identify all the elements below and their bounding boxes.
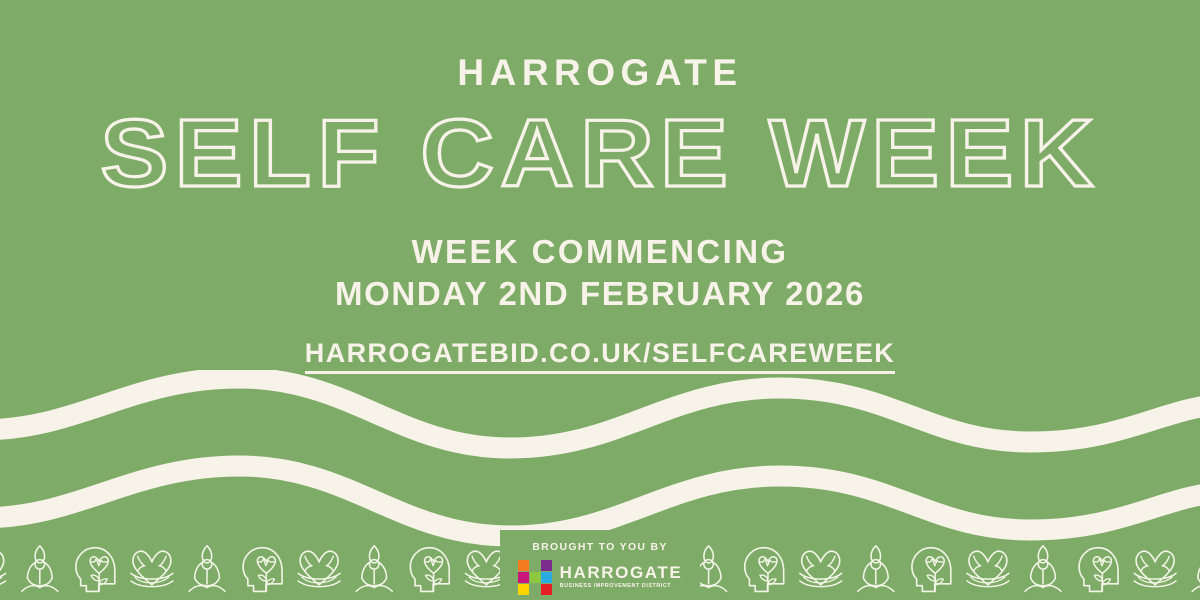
logo-square-orange	[518, 560, 529, 571]
website-link[interactable]: HARROGATEBID.CO.UK/SELFCAREWEEK	[305, 339, 895, 374]
subtitle-date: MONDAY 2ND FEBRUARY 2026	[0, 270, 1200, 312]
wave-decoration	[0, 370, 1200, 550]
logo-square-cyan	[541, 572, 552, 583]
self-care-week-poster: HARROGATE SELF CARE WEEK WEEK COMMENCING…	[0, 0, 1200, 600]
poster-text-block: HARROGATE SELF CARE WEEK WEEK COMMENCING…	[0, 0, 1200, 374]
logo-square-red	[541, 584, 552, 595]
subtitle-week-commencing: WEEK COMMENCING	[0, 201, 1200, 270]
harrogate-bid-logo[interactable]: HARROGATE BUSINESS IMPROVEMENT DISTRICT	[510, 560, 690, 600]
bid-logo-name: HARROGATE	[560, 564, 683, 581]
kicker-harrogate: HARROGATE	[0, 0, 1200, 91]
bid-logo-tagline: BUSINESS IMPROVEMENT DISTRICT	[560, 581, 683, 589]
logo-square-green	[530, 572, 541, 583]
bid-logo-text: HARROGATE BUSINESS IMPROVEMENT DISTRICT	[560, 564, 683, 589]
sponsor-logo-block: BROUGHT TO YOU BY HARROGATE BUSINESS IMP…	[500, 530, 700, 600]
logo-square-yellow	[518, 584, 529, 595]
logo-square-magenta	[518, 572, 529, 583]
brought-to-you-by-label: BROUGHT TO YOU BY	[510, 530, 690, 561]
page-title: SELF CARE WEEK	[0, 91, 1200, 201]
logo-square-purple	[541, 560, 552, 571]
bid-logo-mark-icon	[518, 560, 552, 594]
